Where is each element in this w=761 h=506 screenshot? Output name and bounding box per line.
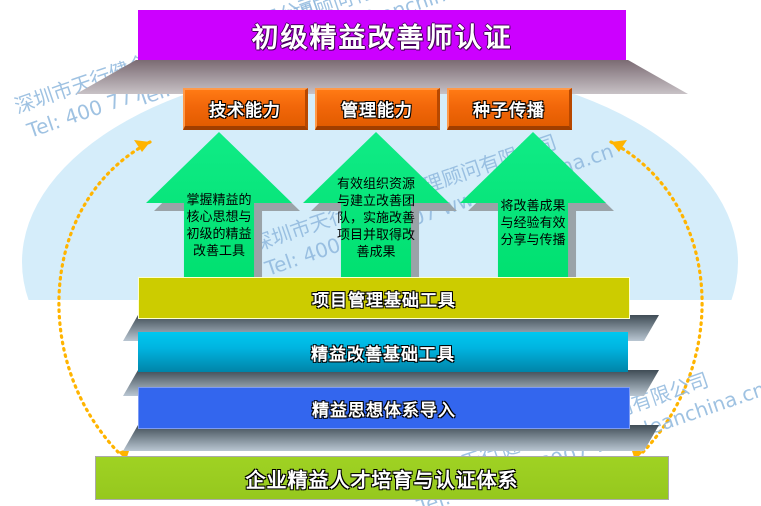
arrow-text-line: 分享与传播 [460, 232, 606, 249]
arrow-text-line: 与建立改善团 [303, 193, 449, 210]
arrow-text-line: 核心思想与 [146, 209, 292, 226]
layer-bar-body: 精益思想体系导入 [138, 387, 630, 429]
green-arrow-label: 有效组织资源 与建立改善团 队，实施改善 项目并取得改 善成果 [303, 176, 449, 261]
capability-label: 技术能力 [209, 96, 281, 121]
capability-box-row: 技术能力 管理能力 种子传播 [183, 88, 572, 130]
capability-box-management[interactable]: 管理能力 [315, 88, 440, 130]
page-title: 初级精益改善师认证 [252, 16, 513, 55]
layer-bar-project-management[interactable]: 项目管理基础工具 [138, 277, 630, 319]
arrow-text-line: 与经验有效 [460, 215, 606, 232]
arrow-text-line: 初级的精益 [146, 226, 292, 243]
title-banner-bar: 初级精益改善师认证 [138, 10, 626, 60]
layer-bar-label: 精益改善基础工具 [311, 340, 455, 365]
arrow-text-line: 改善工具 [146, 243, 292, 260]
arrow-text-line: 队，实施改善 [303, 210, 449, 227]
capability-box-technical[interactable]: 技术能力 [183, 88, 308, 130]
green-arrow-technical: 掌握精益的 核心思想与 初级的精益 改善工具 [146, 132, 292, 280]
green-arrow-management: 有效组织资源 与建立改善团 队，实施改善 项目并取得改 善成果 [303, 132, 449, 280]
layer-bar-lean-thinking[interactable]: 精益思想体系导入 [138, 387, 630, 429]
arrow-text-line: 将改善成果 [460, 198, 606, 215]
title-banner: 初级精益改善师认证 [138, 10, 626, 60]
diagram-canvas: 深圳市天行健企业管理顾问有限公司 Tel: 400 777 6907 www.l… [0, 0, 761, 506]
green-arrow-label: 将改善成果 与经验有效 分享与传播 [460, 198, 606, 249]
layer-bar-lean-tools[interactable]: 精益改善基础工具 [138, 332, 628, 372]
foundation-bar-body: 企业精益人才培育与认证体系 [95, 456, 669, 500]
arrow-text-line: 掌握精益的 [146, 192, 292, 209]
foundation-bar-label: 企业精益人才培育与认证体系 [246, 464, 519, 493]
green-arrow-seed-spread: 将改善成果 与经验有效 分享与传播 [460, 132, 606, 280]
layer-bar-body: 精益改善基础工具 [138, 332, 628, 372]
capability-label: 管理能力 [341, 96, 413, 121]
capability-label: 种子传播 [473, 96, 545, 121]
layer-bar-label: 项目管理基础工具 [312, 286, 456, 311]
green-arrow-label: 掌握精益的 核心思想与 初级的精益 改善工具 [146, 192, 292, 260]
layer-bar-body: 项目管理基础工具 [138, 277, 630, 319]
arrow-text-line: 项目并取得改 [303, 227, 449, 244]
arrow-text-line: 善成果 [303, 244, 449, 261]
layer-bar-label: 精益思想体系导入 [312, 396, 456, 421]
foundation-bar[interactable]: 企业精益人才培育与认证体系 [95, 456, 669, 500]
capability-box-seed-spread[interactable]: 种子传播 [447, 88, 572, 130]
arrow-text-line: 有效组织资源 [303, 176, 449, 193]
